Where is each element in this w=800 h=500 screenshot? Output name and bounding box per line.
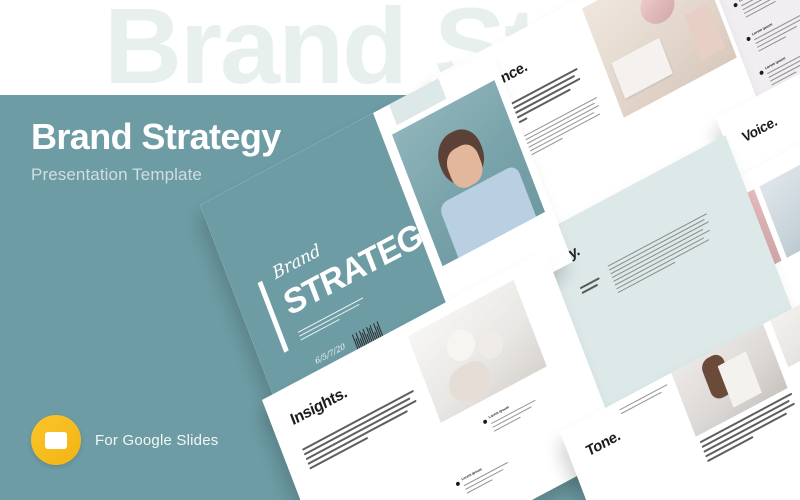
slide-title: Tone. xyxy=(584,427,623,460)
slide-photo xyxy=(582,0,737,118)
slide-title: Insights. xyxy=(288,384,349,430)
bullet-dot xyxy=(483,419,488,425)
page-subtitle: Presentation Template xyxy=(31,165,281,185)
preview-canvas: Brand Strategy Lorem ipsum Lorem ipsum xyxy=(0,0,800,500)
slide-body-lines xyxy=(608,213,718,296)
bullet-body-lines xyxy=(491,400,539,435)
bullet-body-lines xyxy=(754,13,800,54)
google-slides-badge[interactable]: For Google Slides xyxy=(31,415,218,465)
bullet-body-lines xyxy=(741,0,796,21)
bullet-dot xyxy=(733,2,738,8)
slide-glyph-icon xyxy=(45,432,67,449)
hero-block: Brand Strategy Presentation Template xyxy=(31,118,281,185)
bullet-dot xyxy=(455,481,460,487)
bullet-dot xyxy=(746,36,751,42)
page-title: Brand Strategy xyxy=(31,118,281,156)
slide-kicker-lines xyxy=(580,277,603,297)
slide-title: Voice. xyxy=(740,112,779,145)
badge-label: For Google Slides xyxy=(95,432,218,449)
bullet-dot xyxy=(759,70,764,76)
google-slides-icon xyxy=(31,415,81,465)
bullet-body-lines xyxy=(464,462,512,497)
